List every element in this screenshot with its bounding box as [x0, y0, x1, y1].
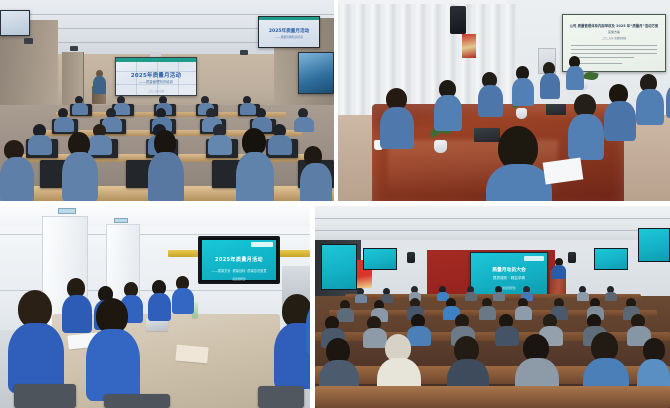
- projection-screen-meta: 二〇二五年 质量管理部: [563, 36, 665, 40]
- side-screen-left[interactable]: [363, 248, 397, 270]
- conference-room-scene: 公司 质量管理体系内部审核及 2025 年“质量月”活动方案 实施方案 二〇二五…: [338, 0, 670, 201]
- org-logo: [524, 256, 544, 261]
- bench-row-5: [315, 386, 670, 408]
- document: [175, 345, 208, 364]
- screen-accent-bar: [116, 58, 196, 62]
- tissue-box: [546, 104, 566, 115]
- main-screen-subtitle: 提质增效 · 精益求精: [471, 276, 547, 281]
- plant-pot: [516, 108, 527, 119]
- ceiling-speaker: [407, 252, 415, 263]
- side-monitor[interactable]: 2025年质量月活动 ——质量管理知识培训: [258, 16, 320, 48]
- photo-collage: 2025年质量月活动 ——质量管理知识培训 二〇二五年九月 2025年质量月活动…: [0, 0, 670, 408]
- small-meeting-room-scene: 2025年质量月活动 ——质量方针 ·质量目标 ·质量意识宣贯 质量管理部: [0, 206, 310, 408]
- side-display-left[interactable]: [0, 10, 30, 36]
- org-logo: [251, 242, 273, 247]
- exit-sign: [58, 208, 76, 214]
- chair: [14, 384, 76, 408]
- side-monitor-accent: [259, 17, 319, 20]
- projection-screen-subtitle: 实施方案: [563, 30, 665, 34]
- tissue-box: [474, 128, 500, 142]
- wall-speaker-right: [70, 46, 78, 51]
- lecture-hall-scene: 2025年质量月活动 ——质量管理知识培训 二〇二五年九月 2025年质量月活动…: [0, 0, 334, 201]
- chair: [104, 394, 170, 408]
- plant-pot: [434, 140, 447, 153]
- television-title: 2025年质量月活动: [202, 256, 276, 263]
- main-screen-title: 质量月动员大会: [471, 266, 547, 273]
- wall-speaker-far-right: [240, 50, 248, 55]
- photo-bottom-left[interactable]: 2025年质量月活动 ——质量方针 ·质量目标 ·质量意识宣贯 质量管理部: [0, 206, 310, 408]
- side-monitor-subtitle: ——质量管理知识培训: [259, 35, 319, 39]
- photo-bottom-right[interactable]: 质量月动员大会 提质增效 · 精益求精 质量管理部: [315, 206, 670, 408]
- side-screen-far-right[interactable]: [638, 228, 670, 262]
- projection-screen-title: 公司 质量管理体系内部审核及 2025 年“质量月”活动方案: [563, 23, 665, 28]
- projection-screen-title: 2025年质量月活动: [116, 71, 196, 79]
- wall-television[interactable]: 2025年质量月活动 ——质量方针 ·质量目标 ·质量意识宣贯 质量管理部: [198, 236, 280, 284]
- television-screen: 2025年质量月活动 ——质量方针 ·质量目标 ·质量意识宣贯 质量管理部: [202, 240, 276, 280]
- ceiling-speaker: [450, 6, 466, 34]
- side-screen-right[interactable]: [594, 248, 628, 270]
- chair: [258, 386, 304, 408]
- wall-poster: [462, 34, 476, 58]
- main-screen-footer: 质量管理部: [471, 286, 547, 290]
- auditorium-scene: 质量月动员大会 提质增效 · 精益求精 质量管理部: [315, 206, 670, 408]
- ceiling-speaker: [568, 252, 576, 263]
- side-display-right[interactable]: [298, 52, 334, 94]
- photo-top-right[interactable]: 公司 质量管理体系内部审核及 2025 年“质量月”活动方案 实施方案 二〇二五…: [338, 0, 670, 201]
- television-logo-label: 质量管理部: [202, 277, 276, 281]
- projection-screen-subtitle: ——质量管理知识培训: [116, 79, 196, 84]
- television-subtitle: ——质量方针 ·质量目标 ·质量意识宣贯: [202, 268, 276, 273]
- side-monitor-title: 2025年质量月活动: [259, 28, 319, 34]
- wall-speaker-left: [24, 38, 33, 44]
- photo-top-left[interactable]: 2025年质量月活动 ——质量管理知识培训 二〇二五年九月 2025年质量月活动…: [0, 0, 334, 201]
- projection-screen[interactable]: 2025年质量月活动 ——质量管理知识培训 二〇二五年九月: [115, 57, 197, 96]
- side-screen-far-left[interactable]: [321, 244, 357, 290]
- projection-screen-footer: 二〇二五年九月: [116, 89, 196, 93]
- exit-sign: [114, 218, 128, 223]
- main-presentation-screen[interactable]: 质量月动员大会 提质增效 · 精益求精 质量管理部: [470, 252, 548, 297]
